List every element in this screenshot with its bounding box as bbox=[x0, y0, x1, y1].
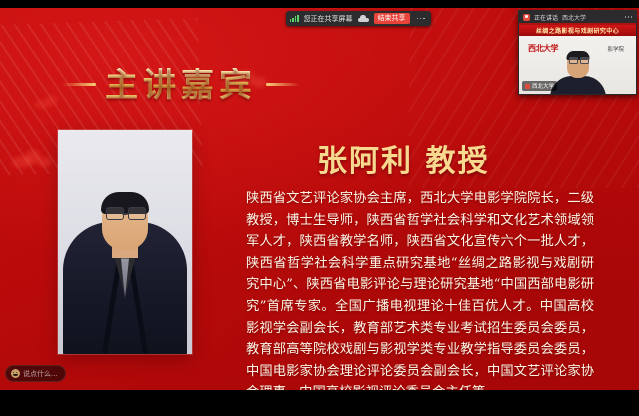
video-stage: 丝绸之路影视与戏剧研究中心 西北大学 影学院 西北大学 bbox=[519, 23, 636, 94]
video-banner-text: 丝绸之路影视与戏剧研究中心 bbox=[536, 26, 619, 35]
badge-microphone-icon bbox=[525, 84, 530, 89]
top-letterbox bbox=[0, 0, 639, 8]
slide-heading-text: 主讲嘉宾 bbox=[105, 68, 257, 101]
more-options-icon[interactable] bbox=[415, 18, 427, 20]
portrait-glasses-right bbox=[128, 207, 146, 220]
cloud-record-icon[interactable] bbox=[358, 15, 369, 22]
heading-rule-right bbox=[266, 83, 300, 86]
video-banner: 丝绸之路影视与戏剧研究中心 bbox=[519, 25, 636, 36]
share-status-text: 您正在共享屏幕 bbox=[304, 14, 353, 24]
speaking-label: 正在讲话 bbox=[534, 13, 558, 22]
video-panel-header: 正在讲话 西北大学 bbox=[519, 11, 636, 23]
stop-share-button[interactable]: 结束共享 bbox=[374, 13, 410, 24]
video-speaker-name: 西北大学 bbox=[562, 13, 586, 22]
video-name-badge: 西北大学 bbox=[522, 81, 557, 91]
video-more-options-icon[interactable] bbox=[625, 16, 632, 18]
portrait-figure bbox=[58, 204, 192, 354]
speaker-name: 张阿利 教授 bbox=[317, 136, 489, 180]
self-video-panel[interactable]: 正在讲话 西北大学 丝绸之路影视与戏剧研究中心 西北大学 影学院 西北大学 bbox=[518, 10, 637, 95]
chat-input-placeholder: 说点什么... bbox=[23, 369, 58, 379]
screen-share-view: 主讲嘉宾 张阿利 教授 陕西省文艺评论家协会主席，西北大学电影学院院长，二级教 bbox=[0, 0, 639, 416]
signal-bars-icon bbox=[290, 15, 299, 22]
slide-heading: 主讲嘉宾 bbox=[62, 68, 300, 101]
video-sublogo: 影学院 bbox=[607, 45, 624, 53]
microphone-icon[interactable] bbox=[523, 14, 530, 21]
chat-input[interactable]: 说点什么... bbox=[5, 365, 66, 382]
speaker-portrait bbox=[58, 130, 192, 354]
share-toolbar[interactable]: 您正在共享屏幕 结束共享 bbox=[286, 11, 431, 26]
bottom-letterbox bbox=[0, 390, 639, 416]
video-university-logo: 西北大学 bbox=[528, 43, 558, 54]
video-name-badge-text: 西北大学 bbox=[532, 82, 554, 90]
emoji-smile-icon[interactable] bbox=[11, 369, 20, 378]
portrait-glasses-bridge bbox=[123, 213, 128, 215]
portrait-glasses-left bbox=[106, 207, 124, 220]
speaker-biography: 陕西省文艺评论家协会主席，西北大学电影学院院长，二级教授，博士生导师，陕西省哲学… bbox=[246, 188, 594, 390]
video-person-glasses-left bbox=[569, 57, 578, 64]
heading-rule-left bbox=[62, 83, 96, 86]
video-person-glasses-right bbox=[580, 57, 589, 64]
